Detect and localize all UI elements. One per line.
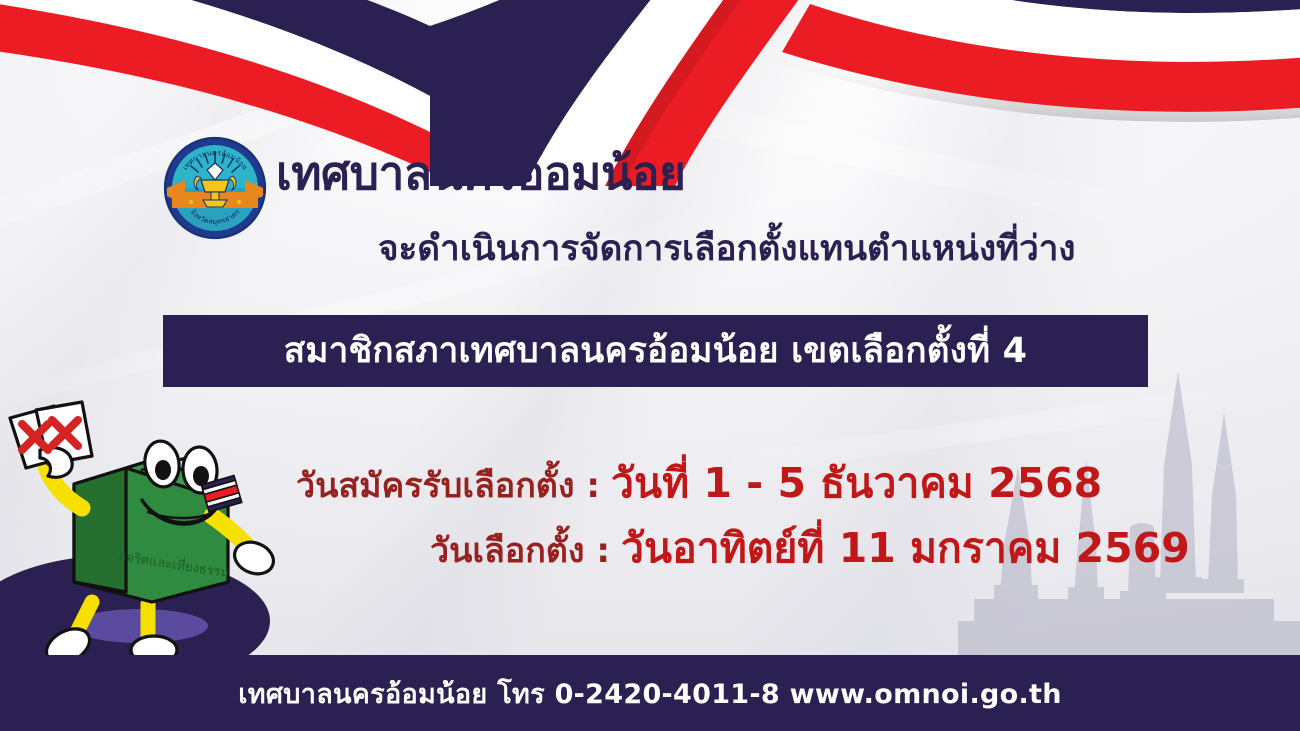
municipality-emblem-icon: เทศบาลนครอ้อมน้อย จังหวัดสมุทรสาคร (163, 136, 267, 240)
highlight-bar: สมาชิกสภาเทศบาลนครอ้อมน้อย เขตเลือกตั้งท… (163, 315, 1148, 387)
election-announcement-banner: เทศบาลนครอ้อมน้อย จังหวัดสมุทรสาคร เทศบา… (0, 0, 1300, 731)
ballot-box-mascot-icon: สุจริตและเที่ยงธรรม (0, 388, 276, 676)
footer-bar: เทศบาลนครอ้อมน้อย โทร 0-2420-4011-8 www.… (0, 655, 1300, 731)
announcement-subtitle: จะดำเนินการจัดการเลือกตั้งแทนตำแหน่งที่ว… (378, 232, 1076, 267)
election-date-label: วันเลือกตั้ง : (430, 531, 610, 571)
footer-contact-text: เทศบาลนครอ้อมน้อย โทร 0-2420-4011-8 www.… (238, 672, 1062, 715)
registration-date-value: วันที่ 1 - 5 ธันวาคม 2568 (611, 459, 1102, 507)
election-date-row: วันเลือกตั้ง : วันอาทิตย์ที่ 11 มกราคม 2… (430, 528, 1190, 569)
election-date-value: วันอาทิตย์ที่ 11 มกราคม 2569 (621, 524, 1190, 572)
registration-date-row: วันสมัครรับเลือกตั้ง : วันที่ 1 - 5 ธันว… (296, 463, 1102, 504)
highlight-bar-text: สมาชิกสภาเทศบาลนครอ้อมน้อย เขตเลือกตั้งท… (284, 334, 1027, 369)
organization-title: เทศบาลนครอ้อมน้อย (276, 150, 686, 196)
registration-date-label: วันสมัครรับเลือกตั้ง : (296, 466, 600, 506)
